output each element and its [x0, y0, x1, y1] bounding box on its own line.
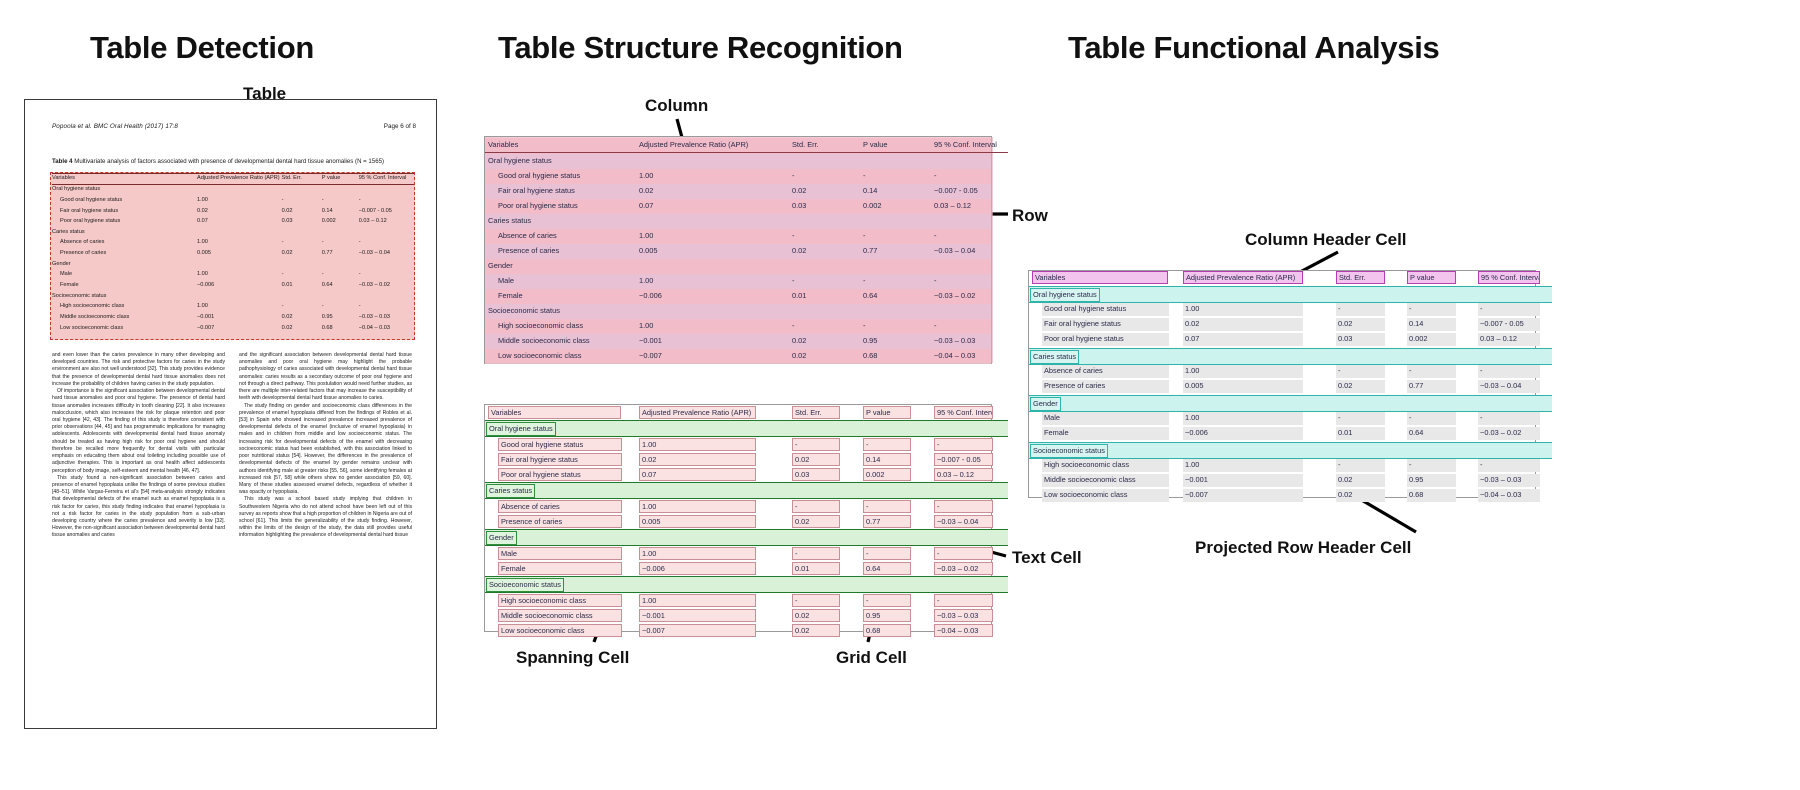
functional-cell: 0.02	[1336, 318, 1385, 331]
grid-cell-container: -	[860, 499, 931, 515]
document-table-section-row: Caries status	[52, 227, 414, 238]
grid-cell-container: −0.007	[636, 623, 789, 638]
document-running-head: Popoola et al. BMC Oral Health (2017) 17…	[52, 123, 178, 130]
structure-data-row[interactable]: Poor oral hygiene status0.070.030.0020.0…	[485, 198, 1008, 213]
structure-header-row[interactable]: VariablesAdjusted Prevalence Ratio (APR)…	[485, 137, 1008, 153]
grid-cell[interactable]: 0.02	[792, 453, 840, 466]
spanning-cell-label: Socioeconomic status	[486, 578, 564, 592]
column-header-cell[interactable]: 95 % Conf. Interval	[1478, 271, 1540, 284]
grid-cell[interactable]: 0.02	[639, 453, 756, 466]
grid-cell-container: −0.03 – 0.04	[931, 514, 1008, 530]
grid-cell[interactable]: -	[792, 500, 840, 513]
grid-cell-header-row[interactable]: VariablesAdjusted Prevalence Ratio (APR)…	[485, 405, 1008, 421]
grid-cell-container: Std. Err.	[789, 405, 860, 421]
projected-row-header-cell-row[interactable]: Gender	[1029, 396, 1552, 412]
grid-cell-container: −0.03 – 0.03	[931, 608, 1008, 623]
functional-cell-container: 1.00	[1180, 412, 1333, 428]
grid-cell[interactable]: −0.03 – 0.04	[934, 515, 993, 528]
structure-section-row[interactable]: Oral hygiene status	[485, 153, 1008, 169]
grid-cell[interactable]: −0.001	[639, 609, 756, 622]
grid-cell-container: P value	[860, 405, 931, 421]
grid-cell[interactable]: Std. Err.	[792, 406, 840, 419]
structure-cell: 0.005	[636, 243, 789, 258]
projected-row-header-cell[interactable]: Socioeconomic status	[1029, 443, 1552, 459]
structure-data-row[interactable]: Absence of caries1.00---	[485, 228, 1008, 243]
document-table-cell	[197, 184, 282, 195]
functional-cell-container: 0.14	[1404, 318, 1475, 333]
grid-cell-container: 0.64	[860, 561, 931, 577]
column-header-cell-container: Adjusted Prevalence Ratio (APR)	[1180, 271, 1333, 287]
projected-row-header-label: Oral hygiene status	[1030, 288, 1100, 302]
table-structure-recognition-table: VariablesAdjusted Prevalence Ratio (APR)…	[484, 136, 992, 364]
grid-cell-container: 95 % Conf. Interval	[931, 405, 1008, 421]
spanning-cell-row[interactable]: Oral hygiene status	[485, 421, 1008, 437]
functional-cell: Fair oral hygiene status	[1042, 318, 1169, 331]
grid-cell-container: −0.007 - 0.05	[931, 452, 1008, 467]
structure-cell: 0.77	[860, 243, 931, 258]
document-table-cell: 1.00	[197, 270, 282, 281]
structure-data-row[interactable]: Presence of caries0.0050.020.77−0.03 – 0…	[485, 243, 1008, 258]
functional-cell: 0.02	[1336, 380, 1385, 393]
grid-cell-container: -	[931, 546, 1008, 562]
document-table-cell: −0.03 – 0.02	[359, 281, 414, 292]
structure-cell: Absence of caries	[485, 228, 636, 243]
document-table-row: Middle socioeconomic class−0.0010.020.95…	[52, 313, 414, 324]
functional-cell: 0.77	[1407, 380, 1456, 393]
grid-cell[interactable]: −0.007 - 0.05	[934, 453, 993, 466]
grid-cell[interactable]: -	[863, 500, 911, 513]
document-left-paragraph: This study found a non-significant assoc…	[52, 475, 225, 540]
document-table-cell: 1.00	[197, 302, 282, 313]
structure-data-row[interactable]: Good oral hygiene status1.00---	[485, 168, 1008, 183]
functional-cell: Presence of caries	[1042, 380, 1169, 393]
structure-cell	[931, 303, 1008, 318]
document-table-cell	[197, 259, 282, 270]
grid-cell[interactable]: Fair oral hygiene status	[498, 453, 622, 466]
grid-cell-container: 0.14	[860, 452, 931, 467]
functional-data-row[interactable]: Male1.00---	[1029, 412, 1552, 428]
functional-cell: 0.03	[1336, 333, 1385, 346]
grid-cell[interactable]: -	[934, 500, 993, 513]
functional-cell-container: −0.007 - 0.05	[1475, 318, 1552, 333]
document-table-cell	[359, 227, 414, 238]
functional-cell: Good oral hygiene status	[1042, 303, 1169, 316]
grid-cell[interactable]: -	[792, 438, 840, 451]
grid-cell[interactable]: 0.68	[863, 624, 911, 637]
functional-data-row[interactable]: Absence of caries1.00---	[1029, 365, 1552, 381]
grid-cell[interactable]: Absence of caries	[498, 500, 622, 513]
document-table-cell: 0.64	[322, 281, 359, 292]
document-table-cell: 0.14	[322, 206, 359, 217]
functional-cell-container: 0.03 – 0.12	[1475, 333, 1552, 349]
structure-cell	[860, 258, 931, 273]
functional-cell: −0.03 – 0.02	[1478, 427, 1540, 440]
functional-cell: Male	[1042, 412, 1169, 425]
grid-cell[interactable]: High socioeconomic class	[498, 594, 622, 607]
structure-section-row[interactable]: Caries status	[485, 213, 1008, 228]
functional-cell: -	[1407, 412, 1456, 425]
structure-cell	[860, 303, 931, 318]
functional-cell-container: 0.02	[1333, 380, 1404, 396]
grid-cell[interactable]: Poor oral hygiene status	[498, 468, 622, 481]
grid-cell[interactable]: 1.00	[639, 500, 756, 513]
column-header-cell[interactable]: Variables	[1032, 271, 1168, 284]
grid-cell[interactable]: 0.95	[863, 609, 911, 622]
document-table-cell	[282, 259, 322, 270]
structure-cell: Middle socioeconomic class	[485, 333, 636, 348]
functional-cell-container: -	[1333, 303, 1404, 319]
grid-cell[interactable]: 1.00	[639, 438, 756, 451]
grid-cell-container: Middle socioeconomic class	[485, 608, 636, 623]
document-table-row: Low socioeconomic class−0.0070.020.68−0.…	[52, 323, 414, 334]
functional-cell-container: −0.03 – 0.02	[1475, 427, 1552, 443]
grid-cell[interactable]: 0.002	[863, 468, 911, 481]
grid-cell[interactable]: Presence of caries	[498, 515, 622, 528]
functional-cell-container: −0.03 – 0.03	[1475, 474, 1552, 489]
functional-cell: 0.005	[1183, 380, 1303, 393]
grid-cell-container: 0.77	[860, 514, 931, 530]
grid-cell-container: -	[789, 546, 860, 562]
functional-cell: 0.002	[1407, 333, 1456, 346]
grid-cell-container: −0.03 – 0.02	[931, 561, 1008, 577]
structure-cell	[931, 213, 1008, 228]
functional-cell-container: Good oral hygiene status	[1029, 303, 1180, 319]
column-header-cell-container: Std. Err.	[1333, 271, 1404, 287]
functional-cell-container: −0.007	[1180, 489, 1333, 504]
document-table-cell	[322, 259, 359, 270]
callout-spanning-cell: Spanning Cell	[516, 648, 629, 668]
grid-cell[interactable]: Middle socioeconomic class	[498, 609, 622, 622]
document-table-cell: 0.77	[322, 249, 359, 260]
panel-title-table-functional: Table Functional Analysis	[1068, 30, 1439, 66]
structure-cell: 1.00	[636, 168, 789, 183]
functional-cell: 0.68	[1407, 489, 1456, 502]
grid-cell-container: −0.006	[636, 561, 789, 577]
cell-table-body: VariablesAdjusted Prevalence Ratio (APR)…	[485, 405, 1008, 638]
grid-cell[interactable]: -	[934, 547, 993, 560]
functional-cell-container: 0.64	[1404, 427, 1475, 443]
projected-row-header-label: Caries status	[1030, 350, 1079, 364]
projected-row-header-cell[interactable]: Gender	[1029, 396, 1552, 412]
grid-cell[interactable]: Adjusted Prevalence Ratio (APR)	[639, 406, 756, 419]
functional-cell-container: High socioeconomic class	[1029, 459, 1180, 475]
column-header-cell[interactable]: Adjusted Prevalence Ratio (APR)	[1183, 271, 1303, 284]
functional-cell-container: 0.68	[1404, 489, 1475, 504]
structure-cell: Good oral hygiene status	[485, 168, 636, 183]
document-table-row: Presence of caries0.0050.020.77−0.03 – 0…	[52, 249, 414, 260]
structure-cell: Fair oral hygiene status	[485, 183, 636, 198]
functional-data-row[interactable]: High socioeconomic class1.00---	[1029, 459, 1552, 475]
grid-cell-container: -	[931, 437, 1008, 453]
grid-cell-container: 0.68	[860, 623, 931, 638]
document-table-cell: -	[282, 302, 322, 313]
grid-cell-row[interactable]: High socioeconomic class1.00---	[485, 593, 1008, 609]
grid-cell-container: 0.03 – 0.12	[931, 467, 1008, 483]
functional-cell: 1.00	[1183, 303, 1303, 316]
grid-cell[interactable]: 95 % Conf. Interval	[934, 406, 993, 419]
functional-cell-container: -	[1475, 365, 1552, 381]
projected-row-header-cell-row[interactable]: Oral hygiene status	[1029, 287, 1552, 303]
structure-data-row[interactable]: Middle socioeconomic class−0.0010.020.95…	[485, 333, 1008, 348]
functional-header-row[interactable]: VariablesAdjusted Prevalence Ratio (APR)…	[1029, 271, 1552, 287]
grid-cell-container: -	[789, 593, 860, 609]
grid-cell[interactable]: Low socioeconomic class	[498, 624, 622, 637]
functional-data-row[interactable]: Middle socioeconomic class−0.0010.020.95…	[1029, 474, 1552, 489]
functional-cell: Low socioeconomic class	[1042, 489, 1169, 502]
grid-cell-container: Presence of caries	[485, 514, 636, 530]
callout-column: Column	[645, 96, 708, 116]
spanning-cell[interactable]: Gender	[485, 530, 1008, 546]
structure-cell: 0.02	[636, 183, 789, 198]
spanning-cell[interactable]: Socioeconomic status	[485, 577, 1008, 593]
document-table-section-row: Oral hygiene status	[52, 184, 414, 195]
document-table-cell: -	[322, 302, 359, 313]
grid-cell-container: -	[860, 437, 931, 453]
document-table-cell: −0.007 - 0.05	[359, 206, 414, 217]
grid-cell[interactable]: −0.04 – 0.03	[934, 624, 993, 637]
document-table-cell: Fair oral hygiene status	[52, 206, 197, 217]
structure-cell: Oral hygiene status	[485, 153, 636, 169]
document-table-cell: -	[322, 196, 359, 207]
functional-cell-container: −0.03 – 0.04	[1475, 380, 1552, 396]
document-table-cell: 0.02	[282, 313, 322, 324]
functional-table-body: VariablesAdjusted Prevalence Ratio (APR)…	[1029, 271, 1552, 504]
grid-cell-row[interactable]: Presence of caries0.0050.020.77−0.03 – 0…	[485, 514, 1008, 530]
document-table-cell	[322, 227, 359, 238]
grid-cell[interactable]: -	[934, 438, 993, 451]
structure-cell: Adjusted Prevalence Ratio (APR)	[636, 137, 789, 153]
document-table-cell: −0.006	[197, 281, 282, 292]
grid-cell-container: 0.02	[789, 608, 860, 623]
grid-cell[interactable]: 0.01	[792, 562, 840, 575]
grid-cell[interactable]: Variables	[488, 406, 621, 419]
grid-cell[interactable]: 0.005	[639, 515, 756, 528]
functional-cell-container: Female	[1029, 427, 1180, 443]
structure-cell: -	[931, 228, 1008, 243]
structure-data-row[interactable]: Fair oral hygiene status0.020.020.14−0.0…	[485, 183, 1008, 198]
functional-cell: Female	[1042, 427, 1169, 440]
structure-cell: Low socioeconomic class	[485, 348, 636, 363]
grid-cell[interactable]: -	[863, 438, 911, 451]
grid-cell[interactable]: -	[934, 594, 993, 607]
grid-cell-container: 0.03	[789, 467, 860, 483]
functional-cell-container: 0.005	[1180, 380, 1333, 396]
functional-cell: 1.00	[1183, 459, 1303, 472]
spanning-cell-row[interactable]: Gender	[485, 530, 1008, 546]
functional-data-row[interactable]: Poor oral hygiene status0.070.030.0020.0…	[1029, 333, 1552, 349]
structure-cell: -	[860, 228, 931, 243]
functional-cell-container: -	[1404, 303, 1475, 319]
grid-cell-row[interactable]: Male1.00---	[485, 546, 1008, 562]
grid-cell[interactable]: 1.00	[639, 594, 756, 607]
document-table-cell: -	[282, 238, 322, 249]
grid-cell[interactable]: -	[863, 547, 911, 560]
document-table-row: Absence of caries1.00---	[52, 238, 414, 249]
grid-cell-row[interactable]: Low socioeconomic class−0.0070.020.68−0.…	[485, 623, 1008, 638]
document-table-cell	[197, 227, 282, 238]
functional-cell-container: Absence of caries	[1029, 365, 1180, 381]
grid-cell-row[interactable]: Absence of caries1.00---	[485, 499, 1008, 515]
structure-cell: Female	[485, 288, 636, 303]
functional-cell-container: -	[1475, 303, 1552, 319]
document-table-cell	[197, 291, 282, 302]
grid-cell[interactable]: −0.006	[639, 562, 756, 575]
table-cell-structure-table: VariablesAdjusted Prevalence Ratio (APR)…	[484, 404, 992, 632]
functional-cell: −0.001	[1183, 474, 1303, 487]
grid-cell[interactable]: 0.14	[863, 453, 911, 466]
grid-cell-row[interactable]: Good oral hygiene status1.00---	[485, 437, 1008, 453]
column-header-cell-container: P value	[1404, 271, 1475, 287]
grid-cell[interactable]: P value	[863, 406, 911, 419]
functional-cell-container: 0.95	[1404, 474, 1475, 489]
grid-cell-container: 0.02	[789, 514, 860, 530]
spanning-cell[interactable]: Oral hygiene status	[485, 421, 1008, 437]
structure-cell	[789, 213, 860, 228]
document-table-cell: Female	[52, 281, 197, 292]
grid-cell-container: Variables	[485, 405, 636, 421]
structure-cell: -	[789, 228, 860, 243]
document-right-paragraph: and the significant association between …	[239, 352, 412, 403]
structure-data-row[interactable]: Male1.00---	[485, 273, 1008, 288]
grid-cell-container: -	[789, 437, 860, 453]
grid-cell-container: 0.07	[636, 467, 789, 483]
functional-data-row[interactable]: Low socioeconomic class−0.0070.020.68−0.…	[1029, 489, 1552, 504]
structure-data-row[interactable]: Low socioeconomic class−0.0070.020.68−0.…	[485, 348, 1008, 363]
document-left-paragraph: and even lower than the caries prevalenc…	[52, 352, 225, 388]
document-page-number: Page 6 of 8	[384, 123, 416, 130]
grid-cell[interactable]: −0.03 – 0.02	[934, 562, 993, 575]
grid-cell-row[interactable]: Female−0.0060.010.64−0.03 – 0.02	[485, 561, 1008, 577]
cell-table-grid: VariablesAdjusted Prevalence Ratio (APR)…	[485, 405, 1008, 638]
document-table-cell: 0.005	[197, 249, 282, 260]
functional-cell: −0.04 – 0.03	[1478, 489, 1540, 502]
grid-cell[interactable]: Good oral hygiene status	[498, 438, 622, 451]
functional-cell-container: -	[1475, 412, 1552, 428]
functional-cell-container: −0.006	[1180, 427, 1333, 443]
projected-row-header-cell[interactable]: Oral hygiene status	[1029, 287, 1552, 303]
grid-cell[interactable]: 0.77	[863, 515, 911, 528]
grid-cell[interactable]: 1.00	[639, 547, 756, 560]
document-table-cell: Poor oral hygiene status	[52, 217, 197, 228]
document-table-cell: -	[322, 270, 359, 281]
grid-cell-container: 1.00	[636, 499, 789, 515]
structure-cell: 0.95	[860, 333, 931, 348]
structure-cell: −0.03 – 0.03	[931, 333, 1008, 348]
grid-cell[interactable]: Female	[498, 562, 622, 575]
functional-cell: -	[1478, 459, 1540, 472]
grid-cell-row[interactable]: Fair oral hygiene status0.020.020.14−0.0…	[485, 452, 1008, 467]
grid-cell-container: −0.001	[636, 608, 789, 623]
projected-row-header-cell-row[interactable]: Caries status	[1029, 349, 1552, 365]
spanning-cell-row[interactable]: Caries status	[485, 483, 1008, 499]
document-text-column-left: and even lower than the caries prevalenc…	[52, 352, 225, 540]
document-table-cell: 0.03 – 0.12	[359, 217, 414, 228]
structure-cell: −0.007	[636, 348, 789, 363]
column-header-cell[interactable]: P value	[1407, 271, 1456, 284]
spanning-cell-row[interactable]: Socioeconomic status	[485, 577, 1008, 593]
document-table-cell: -	[359, 270, 414, 281]
grid-cell-container: Absence of caries	[485, 499, 636, 515]
projected-row-header-cell-row[interactable]: Socioeconomic status	[1029, 443, 1552, 459]
grid-cell[interactable]: −0.007	[639, 624, 756, 637]
functional-data-row[interactable]: Presence of caries0.0050.020.77−0.03 – 0…	[1029, 380, 1552, 396]
structure-cell: 1.00	[636, 228, 789, 243]
grid-cell-row[interactable]: Poor oral hygiene status0.070.030.0020.0…	[485, 467, 1008, 483]
structure-cell: 0.68	[860, 348, 931, 363]
projected-row-header-cell[interactable]: Caries status	[1029, 349, 1552, 365]
grid-cell-row[interactable]: Middle socioeconomic class−0.0010.020.95…	[485, 608, 1008, 623]
structure-cell: 0.03	[789, 198, 860, 213]
grid-cell[interactable]: −0.03 – 0.03	[934, 609, 993, 622]
structure-cell: -	[789, 318, 860, 333]
functional-data-row[interactable]: Fair oral hygiene status0.020.020.14−0.0…	[1029, 318, 1552, 333]
functional-cell-container: 1.00	[1180, 459, 1333, 475]
structure-section-row[interactable]: Socioeconomic status	[485, 303, 1008, 318]
functional-cell: 0.14	[1407, 318, 1456, 331]
grid-cell[interactable]: 0.07	[639, 468, 756, 481]
column-header-cell[interactable]: Std. Err.	[1336, 271, 1385, 284]
structure-cell	[860, 213, 931, 228]
functional-cell: Absence of caries	[1042, 365, 1169, 378]
grid-cell-container: 0.002	[860, 467, 931, 483]
grid-cell-container: 0.02	[789, 623, 860, 638]
panel-title-table-detection: Table Detection	[90, 30, 314, 66]
document-table-row: Male1.00---	[52, 270, 414, 281]
grid-cell-container: Poor oral hygiene status	[485, 467, 636, 483]
grid-cell[interactable]: 0.03	[792, 468, 840, 481]
grid-cell[interactable]: 0.64	[863, 562, 911, 575]
document-table-cell: -	[282, 196, 322, 207]
document-table-row: Female−0.0060.010.64−0.03 – 0.02	[52, 281, 414, 292]
document-right-paragraph: The study finding on gender and socioeco…	[239, 403, 412, 497]
structure-cell: -	[789, 273, 860, 288]
grid-cell[interactable]: 0.02	[792, 515, 840, 528]
structure-cell: -	[931, 318, 1008, 333]
structure-data-row[interactable]: Female−0.0060.010.64−0.03 – 0.02	[485, 288, 1008, 303]
document-page: Popoola et al. BMC Oral Health (2017) 17…	[24, 99, 437, 729]
grid-cell[interactable]: 0.02	[792, 624, 840, 637]
grid-cell[interactable]: 0.03 – 0.12	[934, 468, 993, 481]
functional-cell-container: Low socioeconomic class	[1029, 489, 1180, 504]
document-text-column-right: and the significant association between …	[239, 352, 412, 540]
grid-cell[interactable]: -	[863, 594, 911, 607]
functional-data-row[interactable]: Good oral hygiene status1.00---	[1029, 303, 1552, 319]
projected-row-header-label: Gender	[1030, 397, 1061, 411]
spanning-cell[interactable]: Caries status	[485, 483, 1008, 499]
grid-cell-container: 0.02	[636, 452, 789, 467]
functional-cell-container: Poor oral hygiene status	[1029, 333, 1180, 349]
grid-cell[interactable]: 0.02	[792, 609, 840, 622]
document-right-paragraph: This study was a school based study impl…	[239, 496, 412, 539]
functional-cell-container: 0.07	[1180, 333, 1333, 349]
structure-cell	[636, 213, 789, 228]
functional-data-row[interactable]: Female−0.0060.010.64−0.03 – 0.02	[1029, 427, 1552, 443]
grid-cell-container: 0.005	[636, 514, 789, 530]
structure-cell: Male	[485, 273, 636, 288]
grid-cell[interactable]: -	[792, 547, 840, 560]
grid-cell-container: -	[931, 499, 1008, 515]
structure-section-row[interactable]: Gender	[485, 258, 1008, 273]
document-table-cell	[359, 184, 414, 195]
grid-cell-container: -	[789, 499, 860, 515]
grid-cell[interactable]: -	[792, 594, 840, 607]
structure-data-row[interactable]: High socioeconomic class1.00---	[485, 318, 1008, 333]
grid-cell[interactable]: Male	[498, 547, 622, 560]
document-table-cell: Gender	[52, 259, 197, 270]
structure-cell: 1.00	[636, 273, 789, 288]
structure-cell: Variables	[485, 137, 636, 153]
functional-cell: -	[1407, 303, 1456, 316]
